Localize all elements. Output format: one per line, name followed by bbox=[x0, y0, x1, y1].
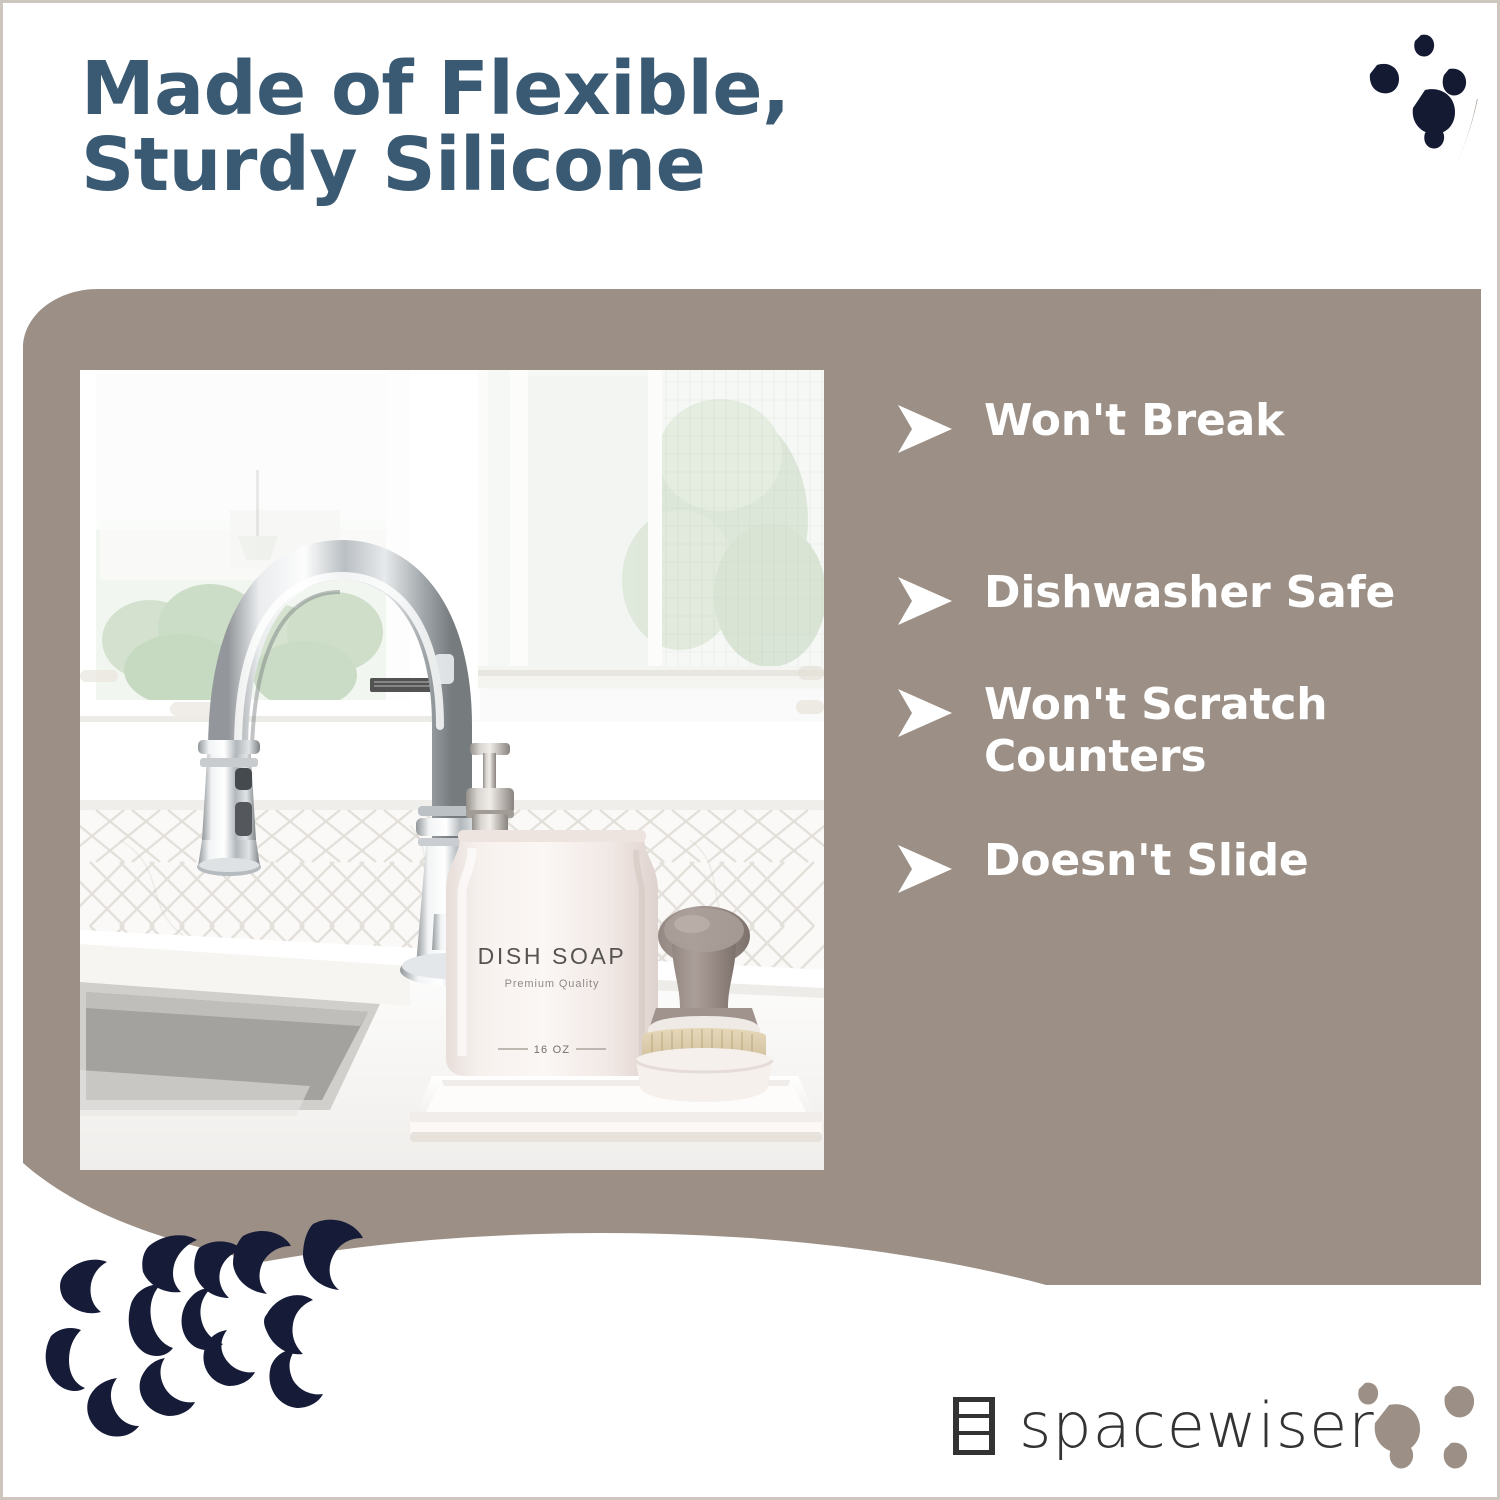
list-item: Doesn't Slide bbox=[896, 835, 1416, 895]
arrowhead-icon bbox=[896, 687, 954, 739]
feature-list: Won't Break Dishwasher Safe Won't Scratc… bbox=[896, 395, 1416, 895]
feature-label: Dishwasher Safe bbox=[984, 567, 1395, 619]
infographic-canvas: Made of Flexible, Sturdy Silicone bbox=[0, 0, 1500, 1500]
brand-logo: spacewiser bbox=[951, 1395, 1375, 1457]
arrowhead-icon bbox=[896, 843, 954, 895]
title-line-2: Sturdy Silicone bbox=[81, 127, 941, 203]
page-title: Made of Flexible, Sturdy Silicone bbox=[81, 51, 941, 203]
crescent-pattern-decoration bbox=[31, 1218, 391, 1448]
title-line-1: Made of Flexible, bbox=[81, 51, 941, 127]
arrowhead-icon bbox=[896, 575, 954, 627]
feature-label: Doesn't Slide bbox=[984, 835, 1309, 887]
feature-label: Won't Break bbox=[984, 395, 1284, 447]
navy-dots-decoration bbox=[1355, 25, 1495, 185]
list-item: Won't Scratch Counters bbox=[896, 679, 1416, 783]
product-photo: DISH SOAP Premium Quality 16 OZ bbox=[80, 370, 824, 1170]
list-item: Won't Break bbox=[896, 395, 1416, 455]
shelf-icon bbox=[951, 1397, 997, 1455]
arrowhead-icon bbox=[896, 403, 954, 455]
feature-label: Won't Scratch Counters bbox=[984, 679, 1404, 783]
brand-name: spacewiser bbox=[1019, 1395, 1375, 1457]
list-item: Dishwasher Safe bbox=[896, 567, 1416, 627]
